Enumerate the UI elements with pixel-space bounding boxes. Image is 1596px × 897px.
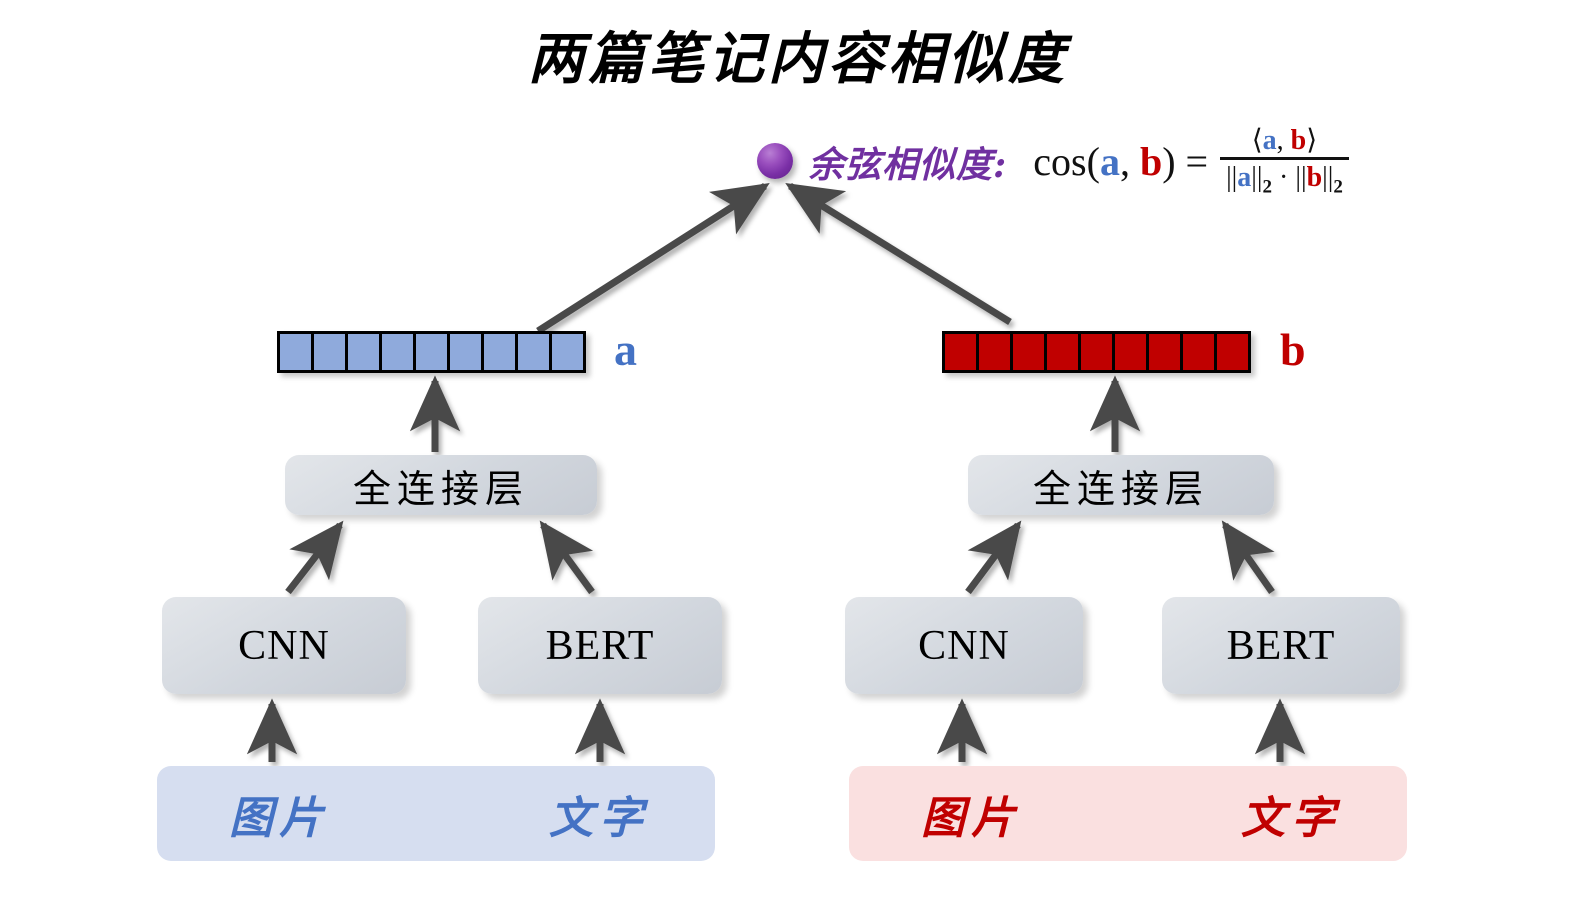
norm-b-open: || [1295, 162, 1306, 193]
fc-layer-right: 全连接层 [968, 455, 1274, 515]
input-image-right: 图片 [921, 782, 1021, 846]
vector-cell [979, 334, 1013, 370]
embedding-vector-b [942, 331, 1251, 373]
encoder-bert-left: BERT [478, 597, 722, 694]
formula-lhs-prefix: cos( [1033, 139, 1100, 184]
arrow-vector-a-to-node [538, 186, 765, 331]
vector-a-label: a [614, 327, 637, 373]
denominator-dot: · [1272, 162, 1295, 193]
formula-lhs-comma: , [1120, 139, 1140, 184]
input-panel-left: 图片 文字 [157, 766, 715, 861]
fc-layer-left: 全连接层 [285, 455, 597, 515]
norm-b-subscript: 2 [1333, 177, 1343, 198]
encoder-bert-right: BERT [1162, 597, 1400, 694]
vector-cell [280, 334, 314, 370]
arrow-layer [0, 0, 1596, 897]
vector-cell [518, 334, 552, 370]
encoder-cnn-right: CNN [845, 597, 1083, 694]
vector-cell [552, 334, 583, 370]
diagram-canvas: 两篇笔记内容相似度 [0, 0, 1596, 897]
encoder-cnn-left: CNN [162, 597, 406, 694]
vector-cell [348, 334, 382, 370]
input-text-right: 文字 [1241, 782, 1341, 846]
vector-b-label: b [1280, 327, 1306, 373]
inner-product-b: b [1291, 125, 1307, 156]
input-text-left: 文字 [549, 782, 649, 846]
inner-product-comma: , [1277, 125, 1291, 156]
formula-lhs-a: a [1100, 139, 1120, 184]
norm-a-subscript: 2 [1263, 177, 1273, 198]
cosine-similarity-formula: 余弦相似度: cos(a, b) = ⟨a, b⟩ ||a||2 · ||b||… [808, 126, 1349, 198]
arrow-vector-b-to-node [790, 186, 1010, 322]
arrow-bert-left-to-fc-left [543, 525, 592, 592]
vector-cell [1183, 334, 1217, 370]
arrow-cnn-right-to-fc-right [968, 525, 1018, 592]
norm-b-symbol: b [1307, 162, 1323, 193]
formula-lhs-b: b [1140, 139, 1162, 184]
norm-a-open: || [1226, 162, 1237, 193]
inner-product-close: ⟩ [1306, 125, 1317, 156]
page-title: 两篇笔记内容相似度 [0, 14, 1596, 95]
vector-cell [484, 334, 518, 370]
formula-lhs-suffix: ) = [1162, 139, 1208, 184]
vector-cell [382, 334, 416, 370]
arrow-bert-right-to-fc-right [1225, 525, 1272, 592]
vector-cell [1013, 334, 1047, 370]
norm-b-close: || [1322, 162, 1333, 193]
norm-a-symbol: a [1237, 162, 1251, 193]
inner-product-a: a [1263, 125, 1277, 156]
cosine-similarity-label: 余弦相似度: [808, 136, 1007, 188]
vector-cell [945, 334, 979, 370]
formula-expression: cos(a, b) = ⟨a, b⟩ ||a||2 · ||b||2 [1033, 126, 1349, 198]
embedding-vector-a [277, 331, 586, 373]
vector-cell [314, 334, 348, 370]
vector-cell [1149, 334, 1183, 370]
norm-a-close: || [1251, 162, 1262, 193]
input-image-left: 图片 [229, 782, 329, 846]
vector-cell [416, 334, 450, 370]
inner-product-open: ⟨ [1252, 125, 1263, 156]
vector-cell [1047, 334, 1081, 370]
formula-denominator: ||a||2 · ||b||2 [1220, 160, 1349, 198]
vector-cell [1217, 334, 1248, 370]
purple-sphere-icon [757, 143, 793, 179]
formula-numerator: ⟨a, b⟩ [1242, 126, 1327, 157]
formula-fraction: ⟨a, b⟩ ||a||2 · ||b||2 [1220, 126, 1349, 198]
input-panel-right: 图片 文字 [849, 766, 1407, 861]
vector-cell [1115, 334, 1149, 370]
arrow-cnn-left-to-fc-left [288, 525, 340, 592]
vector-cell [1081, 334, 1115, 370]
vector-cell [450, 334, 484, 370]
